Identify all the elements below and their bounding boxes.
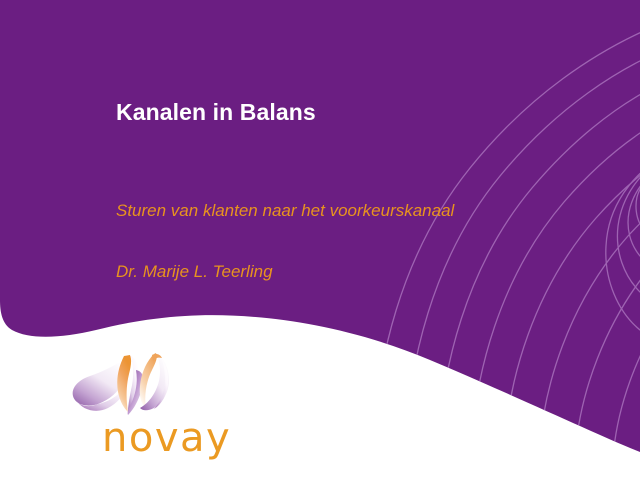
slide-author: Dr. Marije L. Teerling — [116, 262, 273, 282]
novay-wordmark: novay — [102, 416, 231, 460]
slide-subtitle: Sturen van klanten naar het voorkeurskan… — [116, 201, 454, 221]
title-slide: Kanalen in Balans Sturen van klanten naa… — [0, 0, 640, 480]
novay-logo: novay — [68, 350, 243, 462]
slide-title: Kanalen in Balans — [116, 99, 316, 126]
novay-ribbon-mark-icon — [68, 350, 188, 418]
